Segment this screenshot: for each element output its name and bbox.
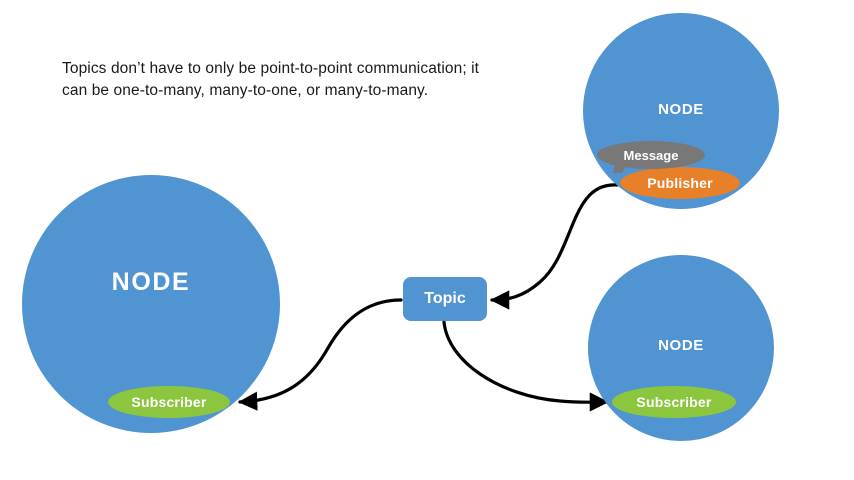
node-top-right-label: NODE [583,101,779,118]
diagram-slide: Topics don’t have to only be point-to-po… [0,0,854,480]
message-callout: Message [597,141,705,169]
topic-box[interactable]: Topic [403,277,487,321]
subscriber-pill-left[interactable]: Subscriber [108,386,230,418]
message-bubble-label[interactable]: Message [597,141,705,169]
edge-publisher-to-topic [492,185,617,300]
caption-text: Topics don’t have to only be point-to-po… [62,58,482,102]
publisher-pill[interactable]: Publisher [620,167,740,199]
node-left-label: NODE [22,268,280,297]
node-bottom-right-label: NODE [588,337,774,354]
edge-topic-to-subscriber-bottom-right [444,322,607,402]
subscriber-pill-bottom-right[interactable]: Subscriber [612,386,736,418]
